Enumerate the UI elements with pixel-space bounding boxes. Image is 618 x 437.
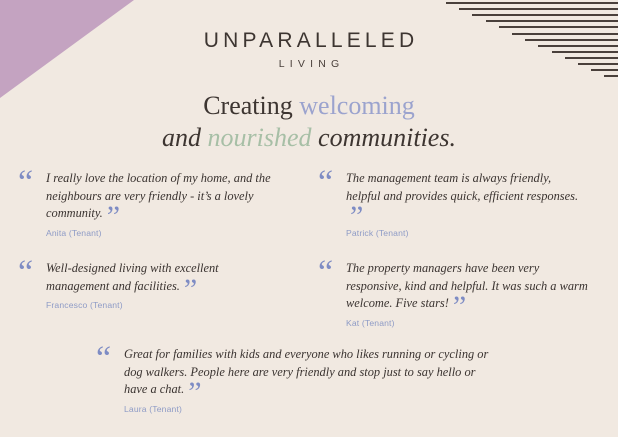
stripe-line — [486, 20, 618, 22]
stripe-line — [604, 75, 618, 77]
testimonial-card-francesco: “Well-designed living with excellent man… — [18, 260, 270, 310]
headline-line2-text-end: communities. — [312, 123, 456, 152]
quote-open-icon: “ — [318, 166, 332, 200]
headline-line-1: Creating welcoming — [0, 90, 618, 122]
testimonial-text-block: “The management team is always friendly,… — [318, 170, 586, 223]
headline-accent-nourished: nourished — [208, 123, 312, 152]
testimonial-text: The management team is always friendly, … — [346, 171, 578, 203]
testimonial-text: I really love the location of my home, a… — [46, 171, 271, 220]
stripe-line — [446, 2, 618, 4]
testimonial-author: Patrick (Tenant) — [346, 228, 586, 238]
stripe-line — [472, 14, 618, 16]
testimonial-text: Great for families with kids and everyon… — [124, 347, 488, 396]
quote-open-icon: “ — [18, 166, 32, 200]
testimonial-text-block: “The property managers have been very re… — [318, 260, 594, 313]
testimonial-text-block: “Well-designed living with excellent man… — [18, 260, 270, 295]
stripe-line — [499, 26, 618, 28]
testimonial-card-anita: “I really love the location of my home, … — [18, 170, 290, 238]
testimonial-author: Kat (Tenant) — [346, 318, 594, 328]
brand-name: UNPARALLELED — [0, 30, 618, 52]
testimonials-list: “I really love the location of my home, … — [0, 168, 618, 437]
testimonial-author: Laura (Tenant) — [124, 404, 496, 414]
headline-accent-welcoming: welcoming — [299, 91, 415, 120]
quote-open-icon: “ — [318, 256, 332, 290]
brand-tagline: LIVING — [0, 58, 618, 70]
testimonial-card-laura: “Great for families with kids and everyo… — [96, 346, 496, 414]
testimonials-slide: UNPARALLELED LIVING Creating welcoming a… — [0, 0, 618, 437]
testimonial-text: The property managers have been very res… — [346, 261, 588, 310]
headline-line1-text: Creating — [203, 91, 299, 120]
page-title: Creating welcoming and nourished communi… — [0, 90, 618, 153]
headline-line-2: and nourished communities. — [0, 122, 618, 154]
brand-logo: UNPARALLELED LIVING — [0, 30, 618, 70]
quote-open-icon: “ — [18, 256, 32, 290]
testimonial-author: Anita (Tenant) — [46, 228, 290, 238]
quote-open-icon: “ — [96, 342, 110, 376]
headline-line2-text-start: and — [162, 123, 208, 152]
testimonial-text-block: “I really love the location of my home, … — [18, 170, 290, 223]
stripe-line — [459, 8, 618, 10]
testimonial-text-block: “Great for families with kids and everyo… — [96, 346, 496, 399]
testimonial-card-kat: “The property managers have been very re… — [318, 260, 594, 328]
testimonial-card-patrick: “The management team is always friendly,… — [318, 170, 586, 238]
testimonial-author: Francesco (Tenant) — [46, 300, 270, 310]
